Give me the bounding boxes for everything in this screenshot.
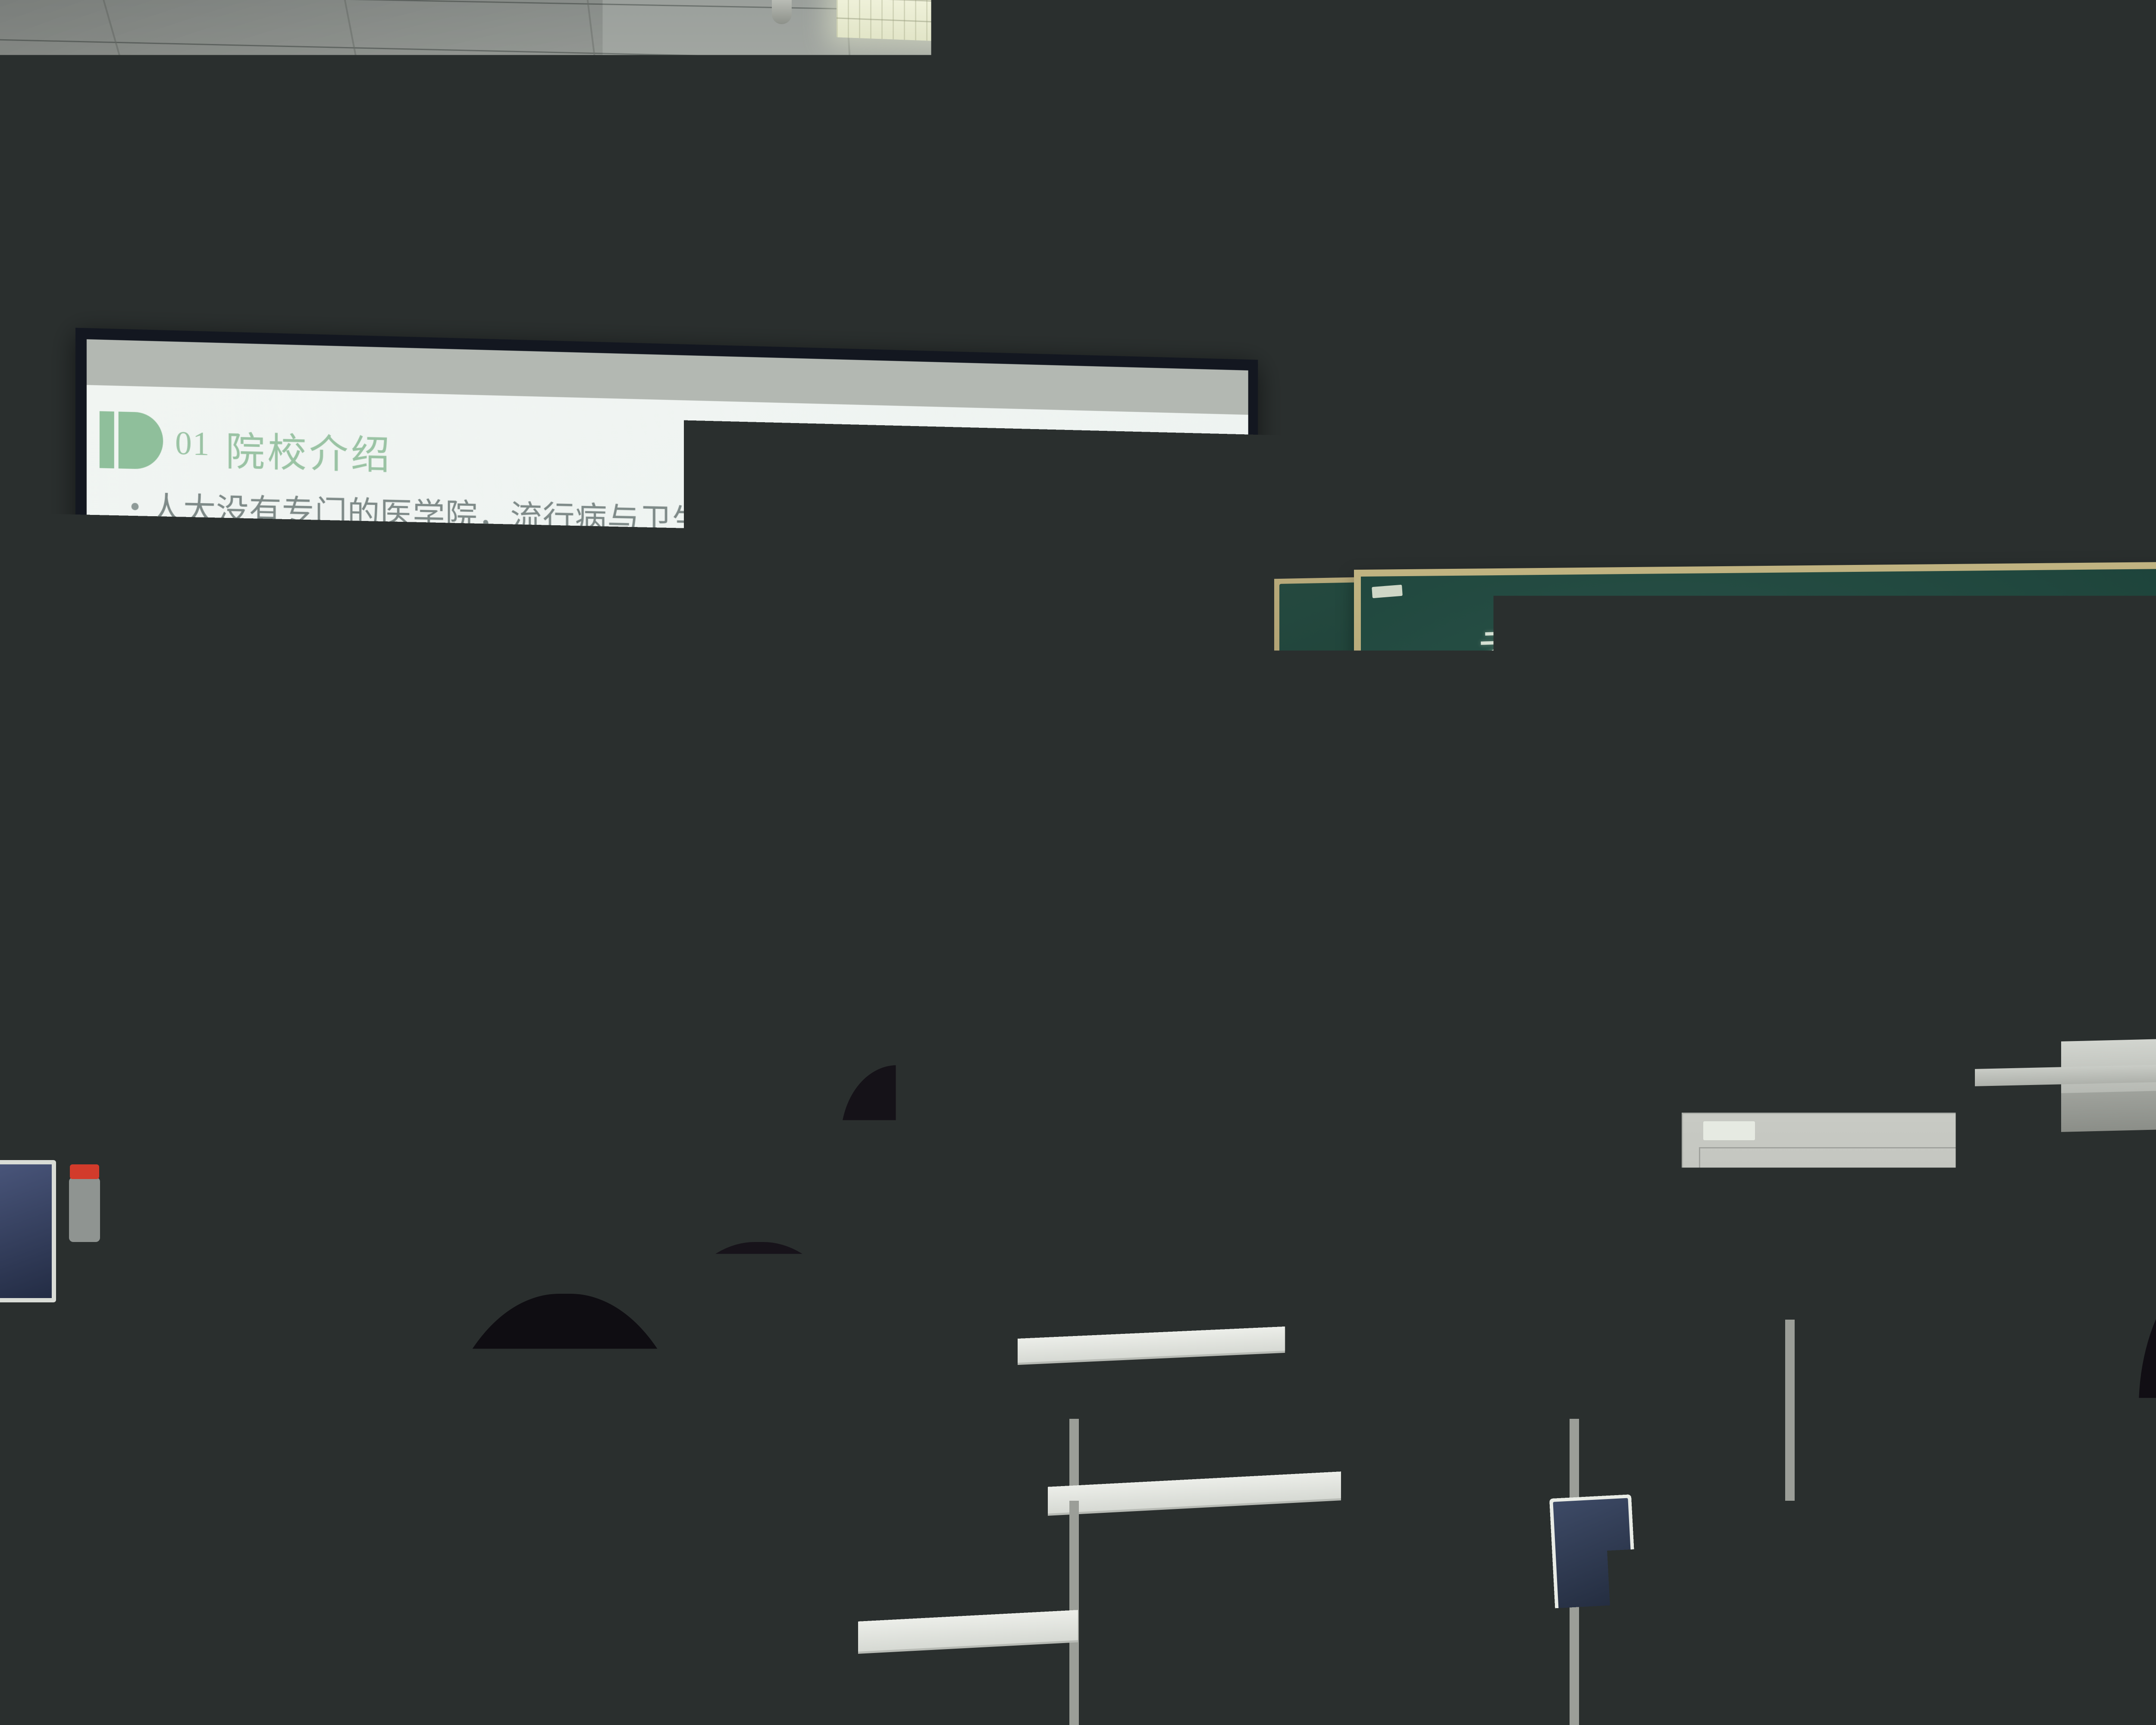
- list-item: 本专业只招收学硕，20-22三届学硕名额应该都是20名，统考名额数具体看推免数决…: [128, 724, 1220, 834]
- tablet-device[interactable]: [1549, 1494, 1637, 1615]
- student-head: [328, 1069, 436, 1212]
- screen-bottom-band: [87, 1042, 1248, 1102]
- chalk-eraser: [1372, 585, 1403, 598]
- slide-bullet-list: 人大没有专门的医学院，流行病与卫生统计学专业是设立在统计学院下的，没有本科生，培…: [102, 485, 1220, 834]
- ceiling-light-panel: [2100, 176, 2156, 267]
- blackboard-line-2: 预防信息专场: [1541, 710, 1899, 790]
- list-item: 毕业生去向主要有互联网行业、药企、医院、疾控和保险公司等，就业范围很广泛。: [128, 628, 1220, 741]
- podium-brand-label: [2053, 1134, 2100, 1145]
- glasses-icon: [2060, 855, 2097, 885]
- student-body: [2083, 1492, 2156, 1725]
- classroom-scene: 01 院校介绍 人大没有专门的医学院，流行病与卫生统计学专业是设立在统计学院下的…: [0, 0, 2156, 1725]
- ceiling-sensor-icon: [772, 0, 792, 24]
- list-item: 人大没有专门的医学院，流行病与卫生统计学专业是设立在统计学院下的，没有本科生，培…: [128, 486, 1220, 647]
- bullet-text: 毕业生去向主要有互联网行业、药企、医院、疾控和保险公司等，就业范围很广泛。: [150, 634, 1211, 719]
- projection-screen: 01 院校介绍 人大没有专门的医学院，流行病与卫生统计学专业是设立在统计学院下的…: [75, 328, 1258, 1113]
- podium-asset-label: [1703, 1121, 1755, 1140]
- ceiling-light-panel: [1048, 186, 1479, 263]
- ceiling-light-panel: [0, 182, 293, 248]
- water-bottle: [69, 1177, 100, 1242]
- ceiling-light-panel: [837, 0, 1367, 58]
- wall-outlet: [1289, 1207, 1318, 1243]
- wall-monitor: [0, 1160, 56, 1302]
- thermos-bottle: [285, 1436, 322, 1535]
- microphone-stand: [1858, 1022, 1861, 1057]
- water-bottle-cap: [70, 1164, 99, 1179]
- microphone-stand-top: [1854, 1019, 1865, 1026]
- wall-baseboard-damage: [1121, 1315, 1617, 1327]
- projected-slide: 01 院校介绍 人大没有专门的医学院，流行病与卫生统计学专业是设立在统计学院下的…: [87, 385, 1248, 1051]
- slide-hyperlink[interactable]: http://stat.ruc.edu.cn/: [864, 599, 1165, 641]
- ceiling: [0, 0, 2156, 276]
- thermos-cap: [285, 1423, 322, 1443]
- slide-logo-d-icon: [100, 411, 164, 469]
- water-bottle: [2027, 1652, 2091, 1725]
- computer-mouse-icon: [1718, 1028, 1754, 1048]
- blackboard-line-1: 考研信息交流会: [1476, 597, 1912, 684]
- slide-number: 01: [175, 423, 210, 463]
- speaker-icon: [1351, 169, 1366, 196]
- ceiling-light-panel: [1432, 0, 1927, 65]
- bullet-text: 本专业只招收学硕，20-22三届学硕名额应该都是20名，统考名额数具体看推免数决…: [150, 730, 1202, 824]
- slide-title: 院校介绍: [226, 420, 392, 481]
